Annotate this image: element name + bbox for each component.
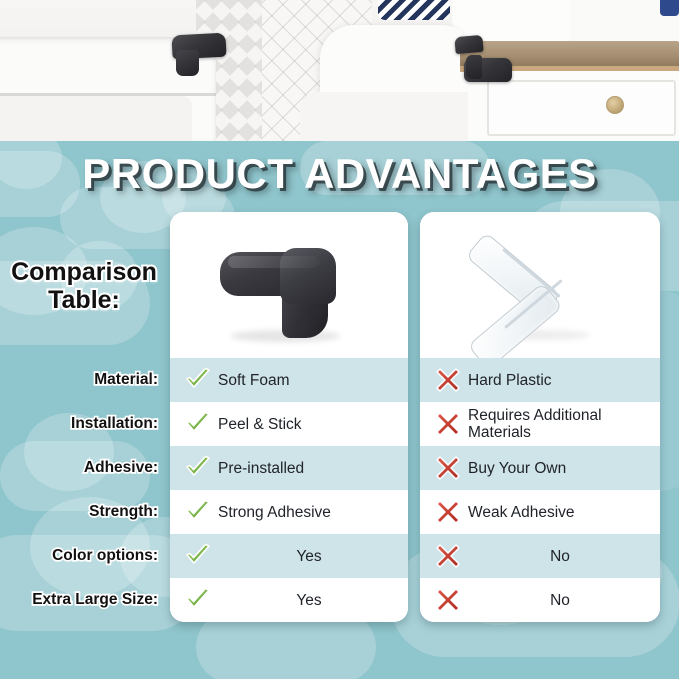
foam-guard-image	[170, 212, 408, 358]
cell-value: Peel & Stick	[218, 416, 400, 433]
plastic-value-rows: Hard Plastic Requires Additional Materia…	[420, 358, 660, 622]
black-foam-corner-guard-icon	[220, 234, 360, 342]
cell-value: Soft Foam	[218, 372, 400, 389]
corner-guard-on-sofa-leg	[176, 50, 199, 76]
cross-icon	[428, 500, 468, 524]
hero-photo	[0, 0, 679, 141]
cell-value: Weak Adhesive	[468, 504, 652, 521]
row-label-column: Material: Installation: Adhesive: Streng…	[0, 358, 166, 622]
table-row: Yes	[170, 534, 408, 578]
check-icon	[178, 544, 218, 568]
comparison-label-line-1: Comparison	[11, 258, 157, 286]
check-icon	[178, 456, 218, 480]
table-row: Strong Adhesive	[170, 490, 408, 534]
cell-value: Yes	[218, 548, 400, 565]
cross-icon	[428, 368, 468, 392]
cross-icon	[428, 544, 468, 568]
cell-value: Buy Your Own	[468, 460, 652, 477]
cross-icon	[428, 588, 468, 612]
armchair-arm	[300, 92, 485, 141]
table-row: Yes	[170, 578, 408, 622]
check-icon	[178, 412, 218, 436]
cell-value: Yes	[218, 592, 400, 609]
row-label-adhesive: Adhesive:	[0, 446, 166, 490]
page-title: PRODUCT ADVANTAGES	[0, 150, 679, 198]
comparison-table-label: Comparison Table:	[2, 258, 166, 314]
foam-highlight	[228, 256, 320, 268]
photo-corner-tag	[660, 0, 679, 16]
table-row: Peel & Stick	[170, 402, 408, 446]
corner-guard-on-table-side	[466, 55, 482, 79]
row-label-color-options: Color options:	[0, 534, 166, 578]
row-label-installation: Installation:	[0, 402, 166, 446]
comparison-label-line-2: Table:	[48, 286, 120, 314]
table-row: Soft Foam	[170, 358, 408, 402]
table-row: Requires Additional Materials	[420, 402, 660, 446]
check-icon	[178, 368, 218, 392]
table-row: No	[420, 534, 660, 578]
white-sofa-base	[0, 96, 192, 141]
navy-striped-pillow	[378, 0, 450, 20]
infographic-canvas: PRODUCT ADVANTAGES Comparison Table: Mat…	[0, 0, 679, 679]
foam-value-rows: Soft Foam Peel & Stick Pre-installed	[170, 358, 408, 622]
check-icon	[178, 500, 218, 524]
row-label-material: Material:	[0, 358, 166, 402]
table-row: Weak Adhesive	[420, 490, 660, 534]
corner-guard-on-table-back	[454, 35, 483, 54]
cabinet-drawer	[487, 80, 676, 136]
cell-value: Strong Adhesive	[218, 504, 400, 521]
check-icon	[178, 588, 218, 612]
table-row: Hard Plastic	[420, 358, 660, 402]
table-row: Buy Your Own	[420, 446, 660, 490]
brass-knob	[606, 96, 624, 114]
row-label-extra-large-size: Extra Large Size:	[0, 578, 166, 622]
row-label-strength: Strength:	[0, 490, 166, 534]
plastic-guard-image	[420, 212, 660, 358]
product-card-plastic: Hard Plastic Requires Additional Materia…	[420, 212, 660, 622]
cross-icon	[428, 412, 468, 436]
table-row: Pre-installed	[170, 446, 408, 490]
clear-plastic-corner-guard-icon	[480, 230, 604, 342]
cell-value: No	[468, 592, 652, 609]
cell-value: Requires Additional Materials	[468, 407, 652, 441]
cell-value: Hard Plastic	[468, 372, 652, 389]
product-card-foam: Soft Foam Peel & Stick Pre-installed	[170, 212, 408, 622]
cross-icon	[428, 456, 468, 480]
table-row: No	[420, 578, 660, 622]
cell-value: No	[468, 548, 652, 565]
cell-value: Pre-installed	[218, 460, 400, 477]
